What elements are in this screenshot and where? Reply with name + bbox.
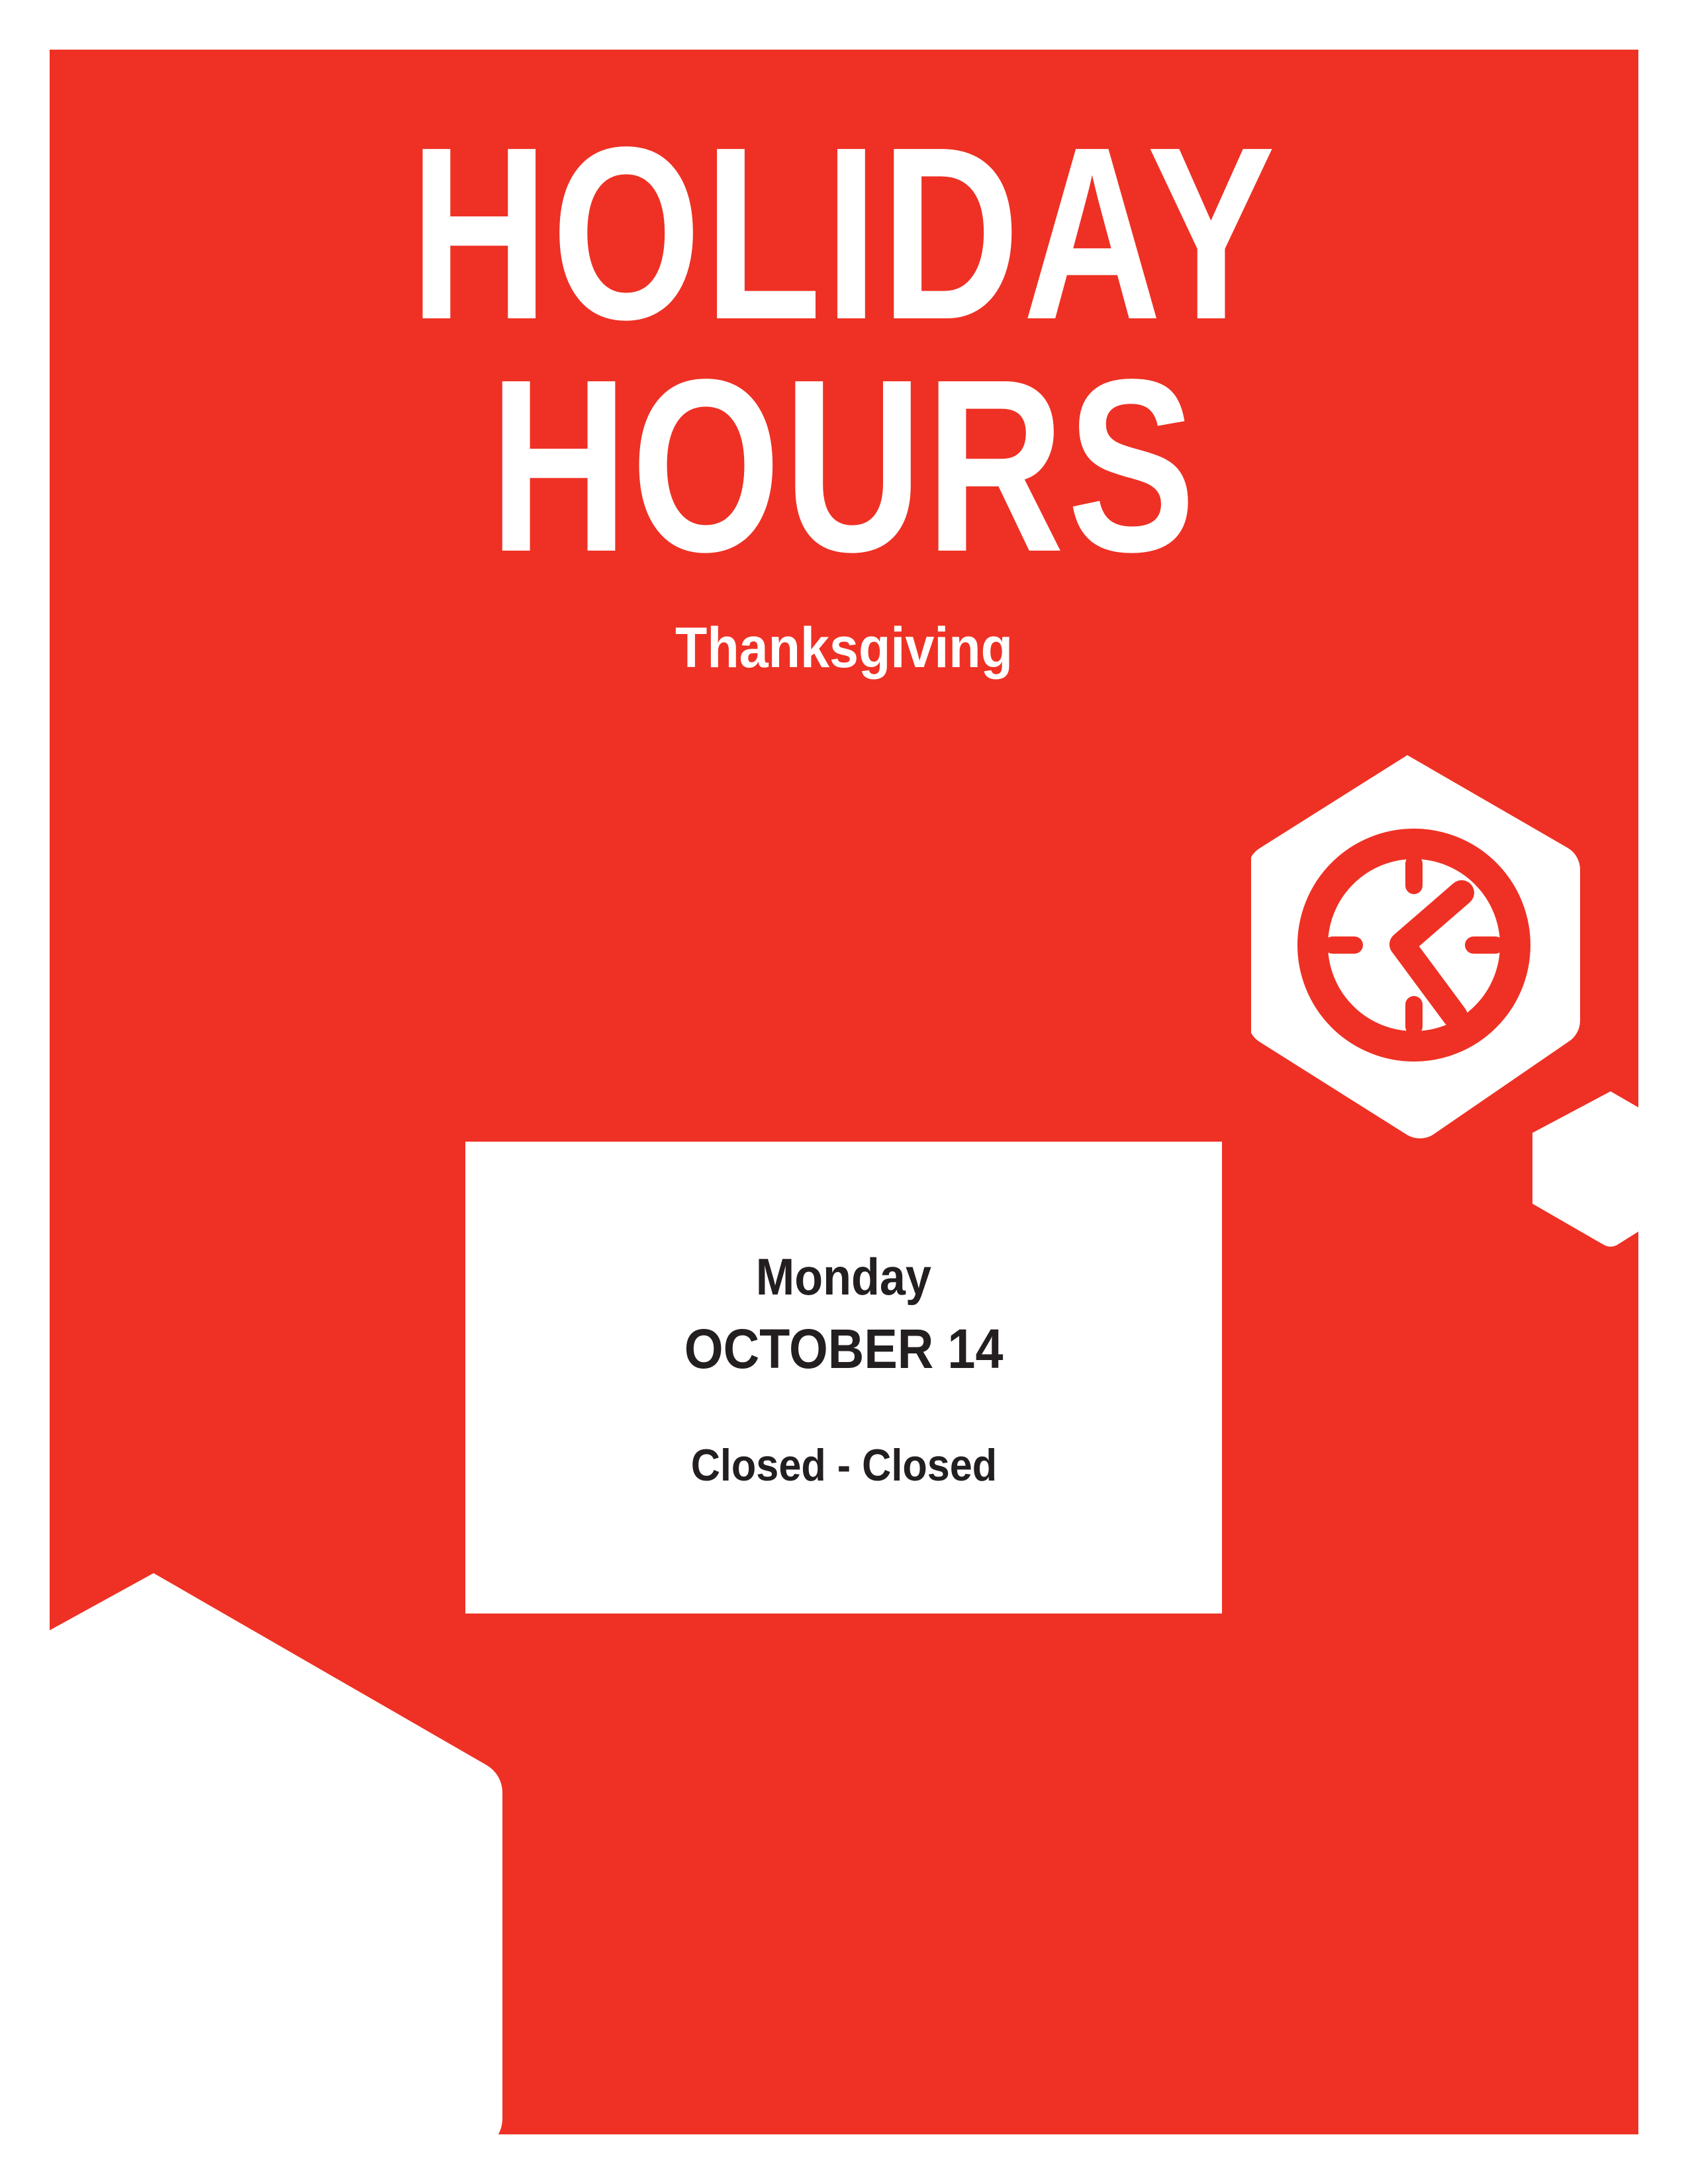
headline-line-1: HOLIDAY — [224, 122, 1464, 344]
holiday-date-label: OCTOBER 14 — [684, 1318, 1004, 1380]
holiday-info-card: Monday OCTOBER 14 Closed - Closed — [465, 1142, 1222, 1614]
clock-hexagon-icon — [1251, 750, 1589, 1140]
page-subtitle: Thanksgiving — [113, 615, 1575, 681]
holiday-hours-label: Closed - Closed — [690, 1441, 996, 1490]
headline-line-2: HOURS — [224, 355, 1464, 576]
red-background-panel: HOLIDAY HOURS Thanksgiving — [50, 50, 1638, 2134]
hexagon-decoration-large — [50, 1559, 523, 2134]
holiday-hours-poster: HOLIDAY HOURS Thanksgiving — [0, 0, 1688, 2184]
holiday-day-label: Monday — [756, 1250, 931, 1304]
page-title: HOLIDAY HOURS — [50, 122, 1638, 576]
hexagon-decoration-small — [1532, 1089, 1638, 1248]
